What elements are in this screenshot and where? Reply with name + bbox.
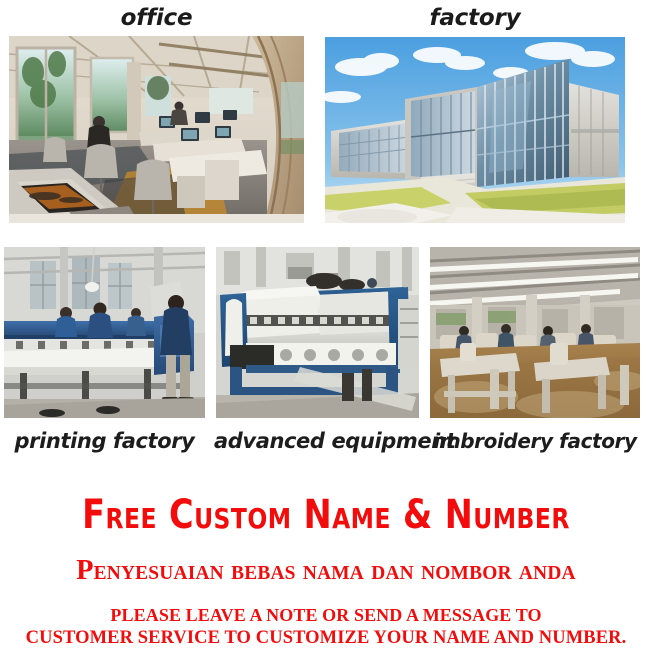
- caption-office: office: [9, 4, 304, 32]
- caption-printing-factory: printing factory: [4, 428, 205, 454]
- promo-note: PLEASE LEAVE A NOTE OR SEND A MESSAGE TO…: [0, 604, 652, 650]
- promo-headline: Free Custom Name & Number: [23, 492, 629, 538]
- printing-factory-photo: [4, 247, 205, 418]
- caption-advanced-equipment: advanced equipment: [214, 428, 419, 454]
- advanced-equipment-photo: [216, 247, 419, 418]
- promo-banner: office factory: [0, 0, 652, 665]
- promo-note-line-2: CUSTOMER SERVICE TO CUSTOMIZE YOUR NAME …: [0, 627, 652, 650]
- office-interior-photo: [9, 36, 304, 223]
- imbroidery-factory-photo: [430, 247, 640, 418]
- caption-factory: factory: [325, 4, 625, 32]
- promo-subheadline: Penyesuaian bebas nama dan nombor anda: [10, 553, 642, 587]
- factory-building-photo: [325, 37, 625, 223]
- caption-imbroidery-factory: imbroidery factory: [430, 428, 640, 454]
- promo-note-line-1: PLEASE LEAVE A NOTE OR SEND A MESSAGE TO: [110, 605, 541, 625]
